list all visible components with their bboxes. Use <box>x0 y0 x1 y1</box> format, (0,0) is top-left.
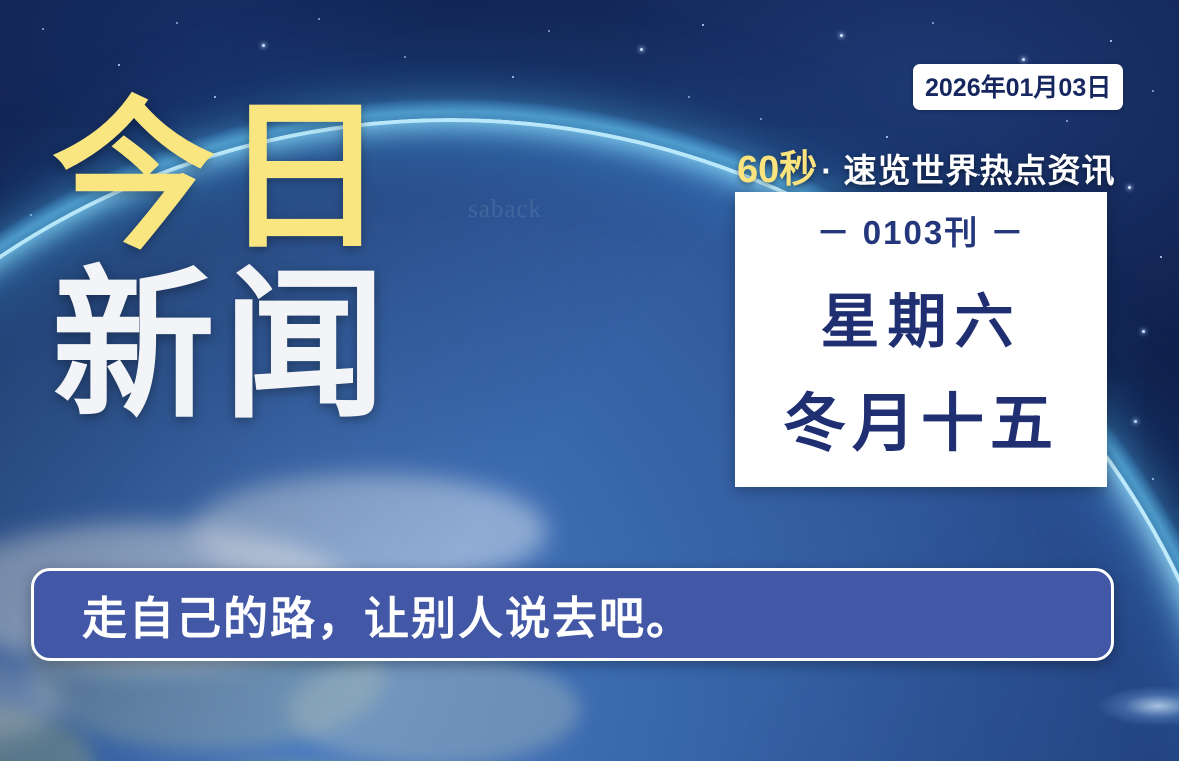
date-card: － 0103刊 － 星期六 冬月十五 <box>735 192 1107 487</box>
date-badge: 2026年01月03日 <box>913 64 1123 110</box>
poster-canvas: saback 今日 新闻 2026年01月03日 60秒· 速览世界热点资讯 －… <box>0 0 1179 761</box>
poster-title: 今日 新闻 <box>52 96 532 427</box>
tagline-description: · 速览世界热点资讯 <box>821 152 1115 189</box>
title-line-news: 新闻 <box>52 265 532 426</box>
card-issue-number: － 0103刊 － <box>817 206 1026 254</box>
tagline-seconds: 60秒 <box>737 149 817 191</box>
quote-text: 走自己的路，让别人说去吧。 <box>82 582 693 647</box>
card-weekday: 星期六 <box>820 274 1021 359</box>
tagline: 60秒· 速览世界热点资讯 <box>737 138 1107 193</box>
quote-bar: 走自己的路，让别人说去吧。 <box>31 568 1114 661</box>
card-lunar-date: 冬月十五 <box>783 373 1059 464</box>
title-line-today: 今日 <box>52 96 532 257</box>
